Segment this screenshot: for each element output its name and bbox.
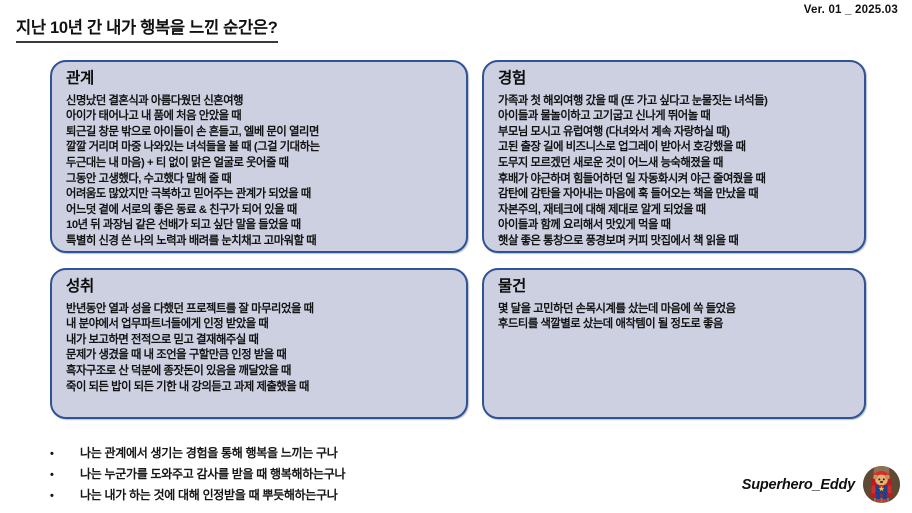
conclusion-item: • 나는 관계에서 생기는 경험을 통해 행복을 느끼는 구나 bbox=[50, 443, 345, 464]
list-item: 문제가 생겼을 때 내 조언을 구할만큼 인정 받을 때 bbox=[66, 348, 454, 364]
card-things: 물건 몇 달을 고민하던 손목시계를 샀는데 마음에 쏙 들었음 후드티를 색깔… bbox=[482, 268, 866, 419]
page-title: 지난 10년 간 내가 행복을 느낀 순간은? bbox=[16, 14, 278, 43]
list-item: 내가 보고하면 전적으로 믿고 결재해주실 때 bbox=[66, 333, 454, 349]
conclusion-item-label: 나는 누군가를 도와주고 감사를 받을 때 행복해하는구나 bbox=[80, 464, 345, 484]
list-item: 자본주의, 재테크에 대해 제대로 알게 되었을 때 bbox=[498, 203, 852, 219]
list-item: 특별히 신경 쓴 나의 노력과 배려를 눈치채고 고마워할 때 bbox=[66, 234, 454, 250]
conclusion-item: • 나는 내가 하는 것에 대해 인정받을 때 뿌듯해하는구나 bbox=[50, 485, 345, 506]
bullet-icon: • bbox=[50, 444, 80, 464]
list-item: 내 분야에서 업무파트너들에게 인정 받았을 때 bbox=[66, 317, 454, 333]
list-item: 어느덧 곁에 서로의 좋은 동료 & 친구가 되어 있을 때 bbox=[66, 203, 454, 219]
card-relationship-title: 관계 bbox=[66, 70, 454, 89]
list-item: 후배가 야근하며 힘들어하던 일 자동화시켜 야근 줄여줬을 때 bbox=[498, 172, 852, 188]
list-item: 부모님 모시고 유럽여행 (다녀와서 계속 자랑하실 때) bbox=[498, 125, 852, 141]
list-item: 죽이 되든 밥이 되든 기한 내 강의듣고 과제 제출했을 때 bbox=[66, 380, 454, 396]
list-item: 10년 뒤 과장님 같은 선배가 되고 싶단 말을 들었을 때 bbox=[66, 218, 454, 234]
list-item: 햇살 좋은 통창으로 풍경보며 커피 맛집에서 책 읽을 때 bbox=[498, 234, 852, 250]
list-item: 가족과 첫 해외여행 갔을 때 (또 가고 싶다고 눈물짓는 녀석들) bbox=[498, 94, 852, 110]
card-achievement: 성취 반년동안 열과 성을 다했던 프로젝트를 잘 마무리었을 때 내 분야에서… bbox=[50, 268, 468, 419]
list-item: 후드티를 색깔별로 샀는데 애착템이 될 정도로 좋음 bbox=[498, 317, 852, 333]
list-item: 그동안 고생했다, 수고했다 말해 줄 때 bbox=[66, 172, 454, 188]
list-item: 어려움도 많았지만 극복하고 믿어주는 관계가 되었을 때 bbox=[66, 187, 454, 203]
card-things-title: 물건 bbox=[498, 278, 852, 297]
list-item: 흑자구조로 산 덕분에 종잣돈이 있음을 깨달았을 때 bbox=[66, 364, 454, 380]
card-experience-title: 경험 bbox=[498, 70, 852, 89]
card-things-list: 몇 달을 고민하던 손목시계를 샀는데 마음에 쏙 들었음 후드티를 색깔별로 … bbox=[498, 302, 852, 333]
card-relationship-list: 신명났던 결혼식과 아름다웠던 신혼여행 아이가 태어나고 내 품에 처음 안았… bbox=[66, 94, 454, 250]
conclusion-item-label: 나는 관계에서 생기는 경험을 통해 행복을 느끼는 구나 bbox=[80, 443, 338, 463]
avatar bbox=[863, 466, 900, 503]
list-item: 신명났던 결혼식과 아름다웠던 신혼여행 bbox=[66, 94, 454, 110]
list-item: 몇 달을 고민하던 손목시계를 샀는데 마음에 쏙 들었음 bbox=[498, 302, 852, 318]
list-item: 아이들과 물놀이하고 고기굽고 신나게 뛰어놀 때 bbox=[498, 109, 852, 125]
card-experience-list: 가족과 첫 해외여행 갔을 때 (또 가고 싶다고 눈물짓는 녀석들) 아이들과… bbox=[498, 94, 852, 250]
card-experience: 경험 가족과 첫 해외여행 갔을 때 (또 가고 싶다고 눈물짓는 녀석들) 아… bbox=[482, 60, 866, 253]
list-item: 퇴근길 창문 밖으로 아이들이 손 흔들고, 엘베 문이 열리면 bbox=[66, 125, 454, 141]
list-item: 깔깔 거리며 마중 나와있는 녀석들을 볼 때 (그걸 기대하는 bbox=[66, 140, 454, 156]
card-relationship: 관계 신명났던 결혼식과 아름다웠던 신혼여행 아이가 태어나고 내 품에 처음… bbox=[50, 60, 468, 253]
conclusion-item-label: 나는 내가 하는 것에 대해 인정받을 때 뿌듯해하는구나 bbox=[80, 485, 338, 505]
list-item: 두근대는 내 마음) + 티 없이 맑은 얼굴로 웃어줄 때 bbox=[66, 156, 454, 172]
list-item: 고된 출장 길에 비즈니스로 업그레이 받아서 호강했을 때 bbox=[498, 140, 852, 156]
version-label: Ver. 01 _ 2025.03 bbox=[804, 4, 898, 16]
list-item: 도무지 모르겠던 새로운 것이 어느새 능숙해졌을 때 bbox=[498, 156, 852, 172]
list-item: 감탄에 감탄을 자아내는 마음에 훅 들어오는 책을 만났을 때 bbox=[498, 187, 852, 203]
bullet-icon: • bbox=[50, 465, 80, 485]
conclusion-item: • 나는 누군가를 도와주고 감사를 받을 때 행복해하는구나 bbox=[50, 464, 345, 485]
list-item: 아이들과 함께 요리해서 맛있게 먹을 때 bbox=[498, 218, 852, 234]
card-achievement-list: 반년동안 열과 성을 다했던 프로젝트를 잘 마무리었을 때 내 분야에서 업무… bbox=[66, 302, 454, 396]
list-item: 반년동안 열과 성을 다했던 프로젝트를 잘 마무리었을 때 bbox=[66, 302, 454, 318]
signature-name: Superhero_Eddy bbox=[742, 477, 855, 493]
conclusion-list: • 나는 관계에서 생기는 경험을 통해 행복을 느끼는 구나 • 나는 누군가… bbox=[50, 443, 345, 506]
bullet-icon: • bbox=[50, 486, 80, 506]
list-item: 아이가 태어나고 내 품에 처음 안았을 때 bbox=[66, 109, 454, 125]
signature-block: Superhero_Eddy bbox=[742, 466, 900, 503]
card-achievement-title: 성취 bbox=[66, 278, 454, 297]
